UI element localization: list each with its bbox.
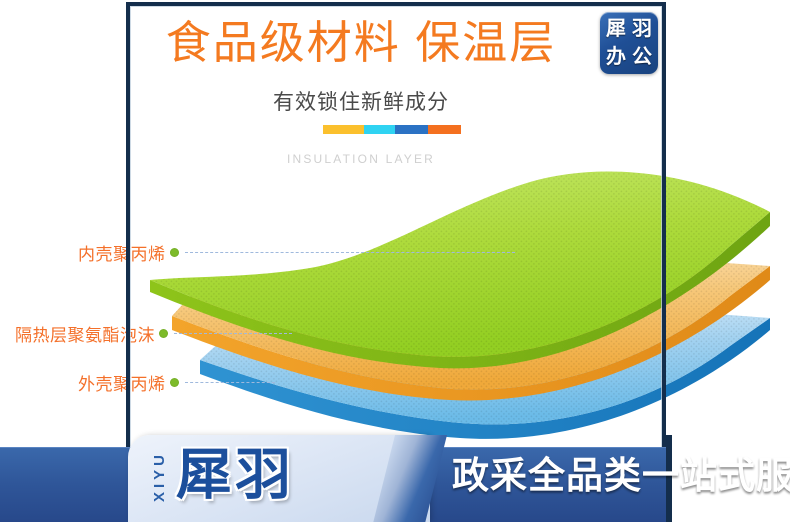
product-detail-stage: 食品级材料 保温层 有效锁住新鲜成分 INSULATION LAYER 犀 羽 … [0, 0, 790, 522]
bottom-brand-banner: XIYU 犀羽 政采全品类一站式服务 [0, 435, 790, 522]
callout-leader-line [185, 252, 515, 253]
callout-inner-shell: 内壳聚丙烯 [78, 240, 515, 265]
callout-dot-icon [170, 248, 179, 257]
logo-char-2: 羽 [632, 19, 652, 39]
callout-dot-icon [159, 329, 168, 338]
brand-logo-badge: 犀 羽 办 公 [600, 12, 658, 74]
callout-leader-line [185, 382, 275, 383]
logo-char-3: 办 [606, 47, 626, 67]
callout-dot-icon [170, 378, 179, 387]
logo-char-4: 公 [632, 47, 652, 67]
callout-label: 内壳聚丙烯 [78, 240, 166, 265]
brand-name-english: XIYU [152, 451, 167, 502]
logo-char-1: 犀 [606, 19, 626, 39]
callout-leader-line [174, 333, 292, 334]
callout-label: 外壳聚丙烯 [78, 370, 166, 395]
callout-outer-shell: 外壳聚丙烯 [78, 370, 275, 395]
callout-label: 隔热层聚氨酯泡沫 [15, 321, 155, 346]
logo-character-grid: 犀 羽 办 公 [603, 15, 655, 71]
banner-slogan: 政采全品类一站式服务 [452, 457, 790, 494]
callout-insulation-foam: 隔热层聚氨酯泡沫 [15, 321, 292, 346]
brand-name-chinese: 犀羽 [176, 447, 294, 503]
